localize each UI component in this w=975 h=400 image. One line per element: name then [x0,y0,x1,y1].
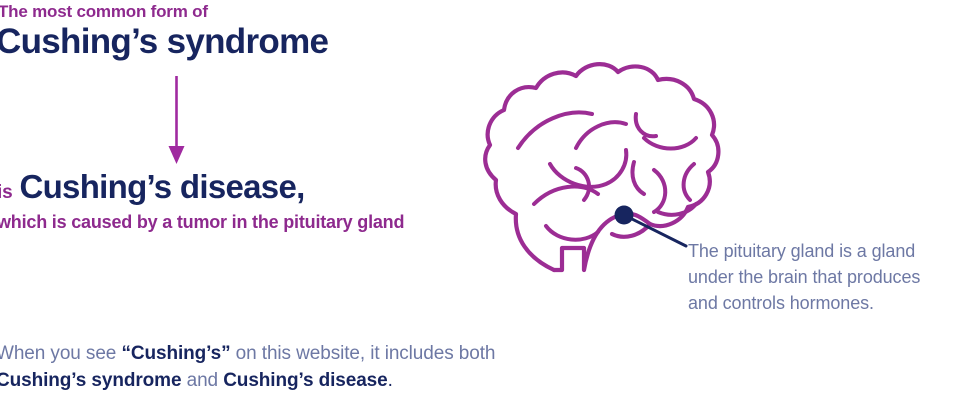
eyebrow-text: The most common form of [0,2,208,22]
callout-line-3: and controls hormones. [688,290,975,316]
pituitary-callout-text: The pituitary gland is a gland under the… [688,238,975,316]
footnote-term-syndrome: Cushing’s syndrome [0,370,181,391]
headline-cushings-syndrome: Cushing’s syndrome [0,22,328,62]
callout-line-1: The pituitary gland is a gland [688,238,975,264]
infographic-canvas: The most common form of Cushing’s syndro… [0,0,975,400]
footnote-text-a: When you see [0,343,121,364]
footnote-conjunction: and [181,370,223,391]
callout-line-2: under the brain that produces [688,264,975,290]
footnote-quoted-term: “Cushing’s” [121,343,230,364]
pituitary-gland-dot-icon [615,206,634,225]
down-arrow-icon [163,70,191,170]
footnote-term-disease: Cushing’s disease [223,370,387,391]
result-headline-row: is Cushing’s disease, [0,168,305,206]
footnote: When you see “Cushing’s” on this website… [0,340,616,394]
footnote-line-2: Cushing’s syndrome and Cushing’s disease… [0,367,616,394]
headline-cushings-disease: Cushing’s disease, [19,168,304,206]
lead-word-is: is [0,182,12,204]
footnote-text-b: on this website, it includes both [231,343,496,364]
footnote-period: . [388,370,393,391]
footnote-line-1: When you see “Cushing’s” on this website… [0,340,616,367]
subline-tumor-cause: which is caused by a tumor in the pituit… [0,212,404,233]
